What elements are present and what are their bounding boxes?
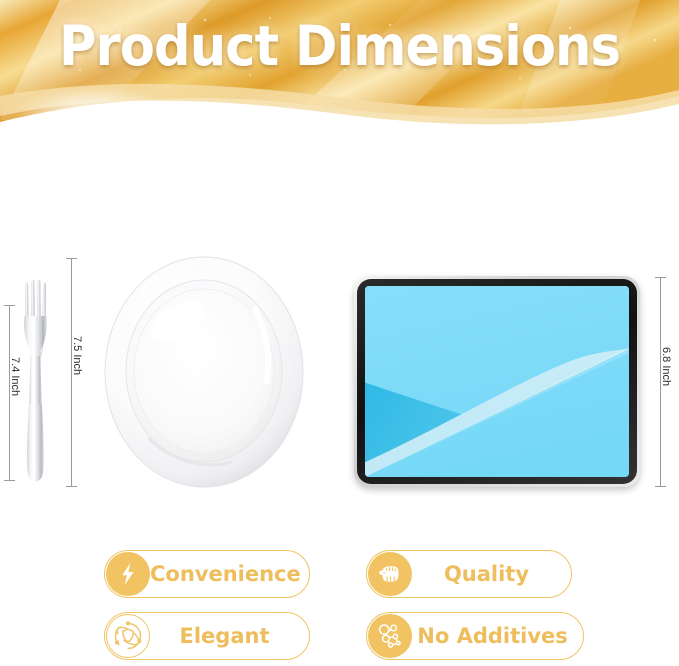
badge-label-quality: Quality <box>412 562 571 586</box>
round-plate-image <box>104 256 304 488</box>
rect-tray-image <box>354 276 640 487</box>
dimension-cap-bottom <box>4 480 15 481</box>
page-title: Product Dimensions <box>24 14 655 78</box>
badge-no-additives[interactable]: No Additives <box>366 612 584 660</box>
dimension-label-plate: 7.5 Inch <box>71 336 83 375</box>
tray-surface <box>365 286 629 477</box>
badge-label-convenience: Convenience <box>150 562 311 586</box>
dimension-cap-top <box>66 258 77 259</box>
round-plate-icon <box>104 256 304 488</box>
molecule-bubbles-icon <box>368 614 412 658</box>
tray-bezel <box>357 279 637 484</box>
dimension-cap-top <box>655 277 666 278</box>
tray-pattern-graphic <box>365 286 629 477</box>
badge-convenience[interactable]: Convenience <box>104 550 310 598</box>
shield-orbit-icon <box>106 614 150 658</box>
fist-icon <box>368 552 412 596</box>
feature-badges: Convenience Elegant <box>0 548 679 666</box>
lightning-bolt-icon <box>106 552 150 596</box>
badge-elegant[interactable]: Elegant <box>104 612 310 660</box>
dimension-cap-top <box>4 305 15 306</box>
product-dimensions-infographic: Product Dimensions 7.4 Inch 7.5 Inch 6.8… <box>0 0 679 666</box>
badge-label-no-additives: No Additives <box>412 624 583 648</box>
dimension-cap-bottom <box>655 486 666 487</box>
dimension-label-tray: 6.8 Inch <box>660 347 672 386</box>
badge-label-elegant: Elegant <box>150 624 309 648</box>
fork-icon <box>18 278 52 486</box>
fork-image <box>18 278 52 486</box>
header-banner: Product Dimensions <box>0 0 679 140</box>
dimension-cap-bottom <box>66 486 77 487</box>
badge-quality[interactable]: Quality <box>366 550 572 598</box>
